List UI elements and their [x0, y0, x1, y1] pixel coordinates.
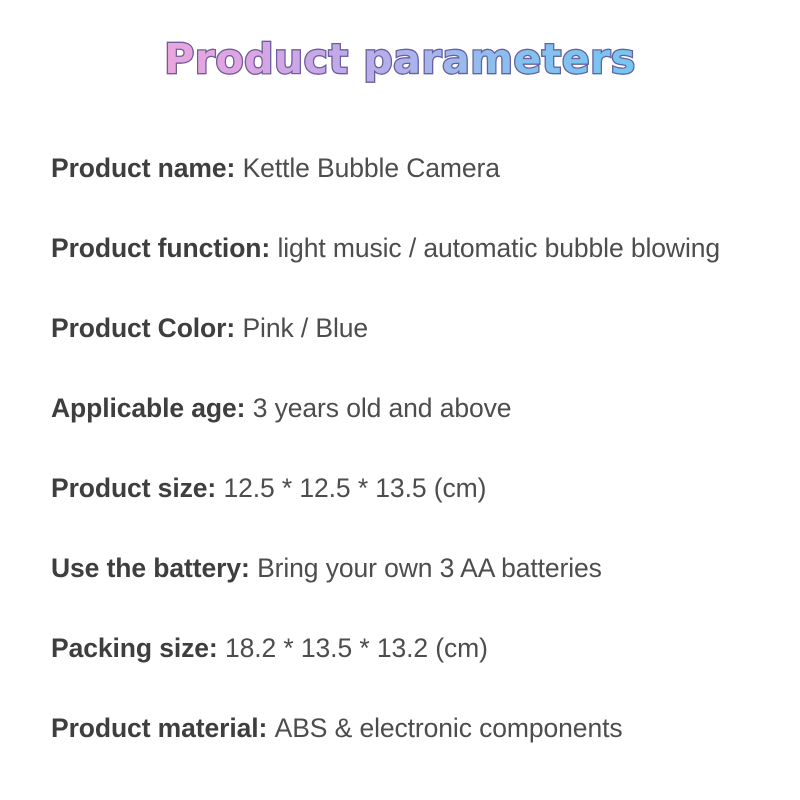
spec-row-use-the-battery: Use the battery: Bring your own 3 AA bat…: [51, 551, 791, 631]
spec-value: 12.5 * 12.5 * 13.5 (cm): [223, 473, 486, 503]
product-parameters-card: Product parameters Product parameters Pr…: [0, 0, 800, 800]
spec-list: Product name: Kettle Bubble Camera Produ…: [51, 151, 791, 791]
spec-row-product-material: Product material: ABS & electronic compo…: [51, 711, 791, 791]
page-title: Product parameters: [164, 36, 636, 83]
spec-label: Use the battery:: [51, 553, 250, 583]
spec-value: Kettle Bubble Camera: [243, 153, 500, 183]
spec-value: light music / automatic bubble blowing: [277, 233, 720, 263]
spec-row-product-color: Product Color: Pink / Blue: [51, 311, 791, 391]
spec-value: ABS & electronic components: [275, 713, 623, 743]
spec-value: 3 years old and above: [253, 393, 512, 423]
spec-value: Bring your own 3 AA batteries: [257, 553, 602, 583]
spec-label: Product function:: [51, 233, 270, 263]
spec-row-product-name: Product name: Kettle Bubble Camera: [51, 151, 791, 231]
spec-value: Pink / Blue: [242, 313, 368, 343]
spec-label: Product name:: [51, 153, 235, 183]
spec-label: Product Color:: [51, 313, 235, 343]
spec-label: Applicable age:: [51, 393, 245, 423]
spec-row-packing-size: Packing size: 18.2 * 13.5 * 13.2 (cm): [51, 631, 791, 711]
spec-row-applicable-age: Applicable age: 3 years old and above: [51, 391, 791, 471]
spec-label: Packing size:: [51, 633, 218, 663]
spec-value: 18.2 * 13.5 * 13.2 (cm): [225, 633, 488, 663]
spec-label: Product material:: [51, 713, 267, 743]
spec-label: Product size:: [51, 473, 216, 503]
page-title-container: Product parameters Product parameters: [0, 36, 800, 100]
spec-row-product-function: Product function: light music / automati…: [51, 231, 791, 311]
spec-row-product-size: Product size: 12.5 * 12.5 * 13.5 (cm): [51, 471, 791, 551]
